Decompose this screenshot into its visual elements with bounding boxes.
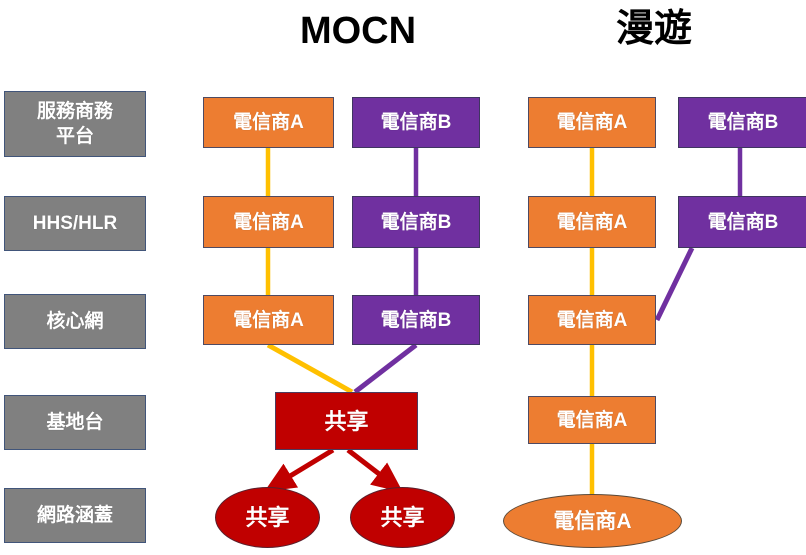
node-mocn-service-carrier-b[interactable]: 電信商B	[352, 97, 480, 148]
node-mocn-hlr-carrier-a[interactable]: 電信商A	[203, 196, 334, 248]
connector-lines	[0, 0, 806, 555]
node-roaming-service-carrier-a[interactable]: 電信商A	[528, 97, 656, 148]
node-roaming-core-carrier-a[interactable]: 電信商A	[528, 295, 656, 345]
node-mocn-coverage-shared-right[interactable]: 共享	[350, 487, 455, 548]
node-mocn-core-carrier-a[interactable]: 電信商A	[203, 295, 334, 345]
link-mocn-shared-to-coverage-left	[272, 450, 333, 487]
node-roaming-base-station-carrier-a[interactable]: 電信商A	[528, 396, 656, 444]
node-mocn-service-carrier-a[interactable]: 電信商A	[203, 97, 334, 148]
row-label-base-station: 基地台	[4, 395, 146, 450]
row-label-network-coverage: 網路涵蓋	[4, 488, 146, 543]
link-mocn-shared-to-coverage-right	[348, 450, 396, 487]
node-mocn-hlr-carrier-b[interactable]: 電信商B	[352, 196, 480, 248]
node-roaming-coverage-carrier-a[interactable]: 電信商A	[503, 494, 682, 548]
diagram-canvas: MOCN 漫遊 服務商務 平台 HHS/HLR 核心網 基地台 網路涵蓋	[0, 0, 806, 555]
node-mocn-coverage-shared-left[interactable]: 共享	[215, 487, 320, 548]
row-label-hhs-hlr: HHS/HLR	[4, 196, 146, 251]
link-mocn-a-core-to-shared	[268, 345, 352, 392]
node-roaming-service-carrier-b[interactable]: 電信商B	[678, 97, 806, 148]
node-roaming-hlr-carrier-a[interactable]: 電信商A	[528, 196, 656, 248]
node-mocn-core-carrier-b[interactable]: 電信商B	[352, 295, 480, 345]
link-roam-b-hlr-to-core-a	[657, 248, 692, 320]
row-label-service-platform: 服務商務 平台	[4, 91, 146, 157]
link-mocn-b-core-to-shared	[355, 345, 416, 392]
node-roaming-hlr-carrier-b[interactable]: 電信商B	[678, 196, 806, 248]
node-mocn-base-station-shared[interactable]: 共享	[275, 392, 418, 450]
row-label-core-network: 核心網	[4, 294, 146, 349]
